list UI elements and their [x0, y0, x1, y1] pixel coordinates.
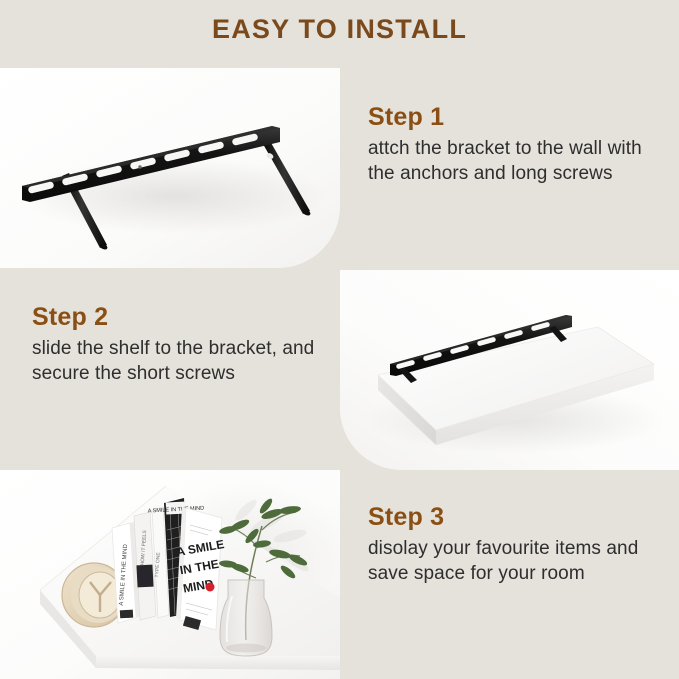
white-floating-shelf-with-bracket-photo [340, 270, 679, 470]
step-2-image-panel [340, 270, 679, 470]
step-3-body: disolay your favourite items and save sp… [368, 536, 673, 587]
step-3-heading: Step 3 [368, 504, 673, 532]
step-1-body: attch the bracket to the wall with the a… [368, 136, 668, 187]
page-title: EASY TO INSTALL [0, 14, 679, 45]
black-wall-mount-bracket-photo [0, 68, 340, 268]
step-3-image-panel: A SMILE IN THE MIND HOW IT FEELS TYPE ON… [0, 470, 340, 679]
step-2-body: slide the shelf to the bracket, and secu… [32, 336, 332, 387]
step-1-image-panel [0, 68, 340, 268]
step-2-text-block: Step 2 slide the shelf to the bracket, a… [32, 304, 332, 386]
step-2-heading: Step 2 [32, 304, 332, 332]
step-1-heading: Step 1 [368, 104, 668, 132]
styled-shelf-with-books-photo: A SMILE IN THE MIND HOW IT FEELS TYPE ON… [0, 470, 340, 679]
step-3-text-block: Step 3 disolay your favourite items and … [368, 504, 673, 586]
step-1-text-block: Step 1 attch the bracket to the wall wit… [368, 104, 668, 186]
infographic-canvas: EASY TO INSTALL [0, 0, 679, 679]
